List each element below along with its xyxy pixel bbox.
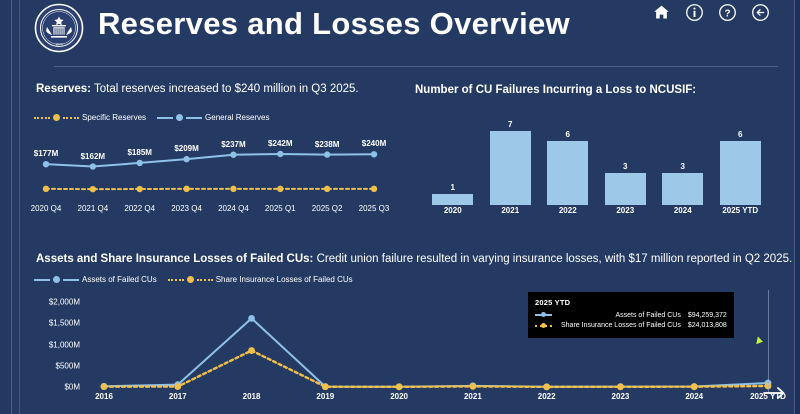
bar[interactable] [547, 141, 588, 205]
legend-item-assets-of-failed-cus[interactable]: Assets of Failed CUs [34, 275, 157, 284]
solid-line-swatch-icon [186, 117, 202, 119]
reserves-value-label: $177M [34, 149, 58, 158]
legend-item-share-insurance-losses[interactable]: Share Insurance Losses of Failed CUs [168, 275, 353, 284]
right-edge-strip [794, 0, 800, 414]
yellow-dot-icon [53, 114, 60, 121]
failures-x-axis-label: 2020 [444, 206, 462, 215]
losses-x-axis-label: 2020 [390, 392, 408, 401]
bar-value-label: 6 [738, 130, 742, 139]
bar[interactable] [605, 173, 646, 205]
solid-line-swatch-icon [63, 279, 79, 281]
reserves-heading-rest: Total reserves increased to $240 million… [91, 83, 359, 95]
bar[interactable] [720, 141, 761, 205]
left-edge-strip [0, 0, 12, 414]
reserves-heading-bold: Reserves: [36, 83, 91, 95]
reserves-value-label: $237M [221, 140, 245, 149]
tooltip-series-swatch-icon [535, 311, 561, 322]
legend-label: Assets of Failed CUs [82, 275, 157, 284]
reserves-value-label: $185M [127, 148, 151, 157]
page-title: Reserves and Losses Overview [98, 6, 570, 42]
solid-line-swatch-icon [157, 117, 173, 119]
losses-x-axis-label: 2018 [243, 392, 261, 401]
bar[interactable] [662, 173, 703, 205]
bar-value-label: 1 [451, 183, 455, 192]
legend-label: Share Insurance Losses of Failed CUs [216, 275, 353, 284]
dotted-line-swatch-icon [197, 279, 213, 281]
bar[interactable] [432, 194, 473, 205]
reserves-x-axis-label: 2025 Q3 [359, 204, 390, 213]
losses-x-axis-label: 2022 [538, 392, 556, 401]
reserves-value-label: $242M [268, 139, 292, 148]
losses-legend: Assets of Failed CUs Share Insurance Los… [34, 275, 360, 284]
reserves-x-axis-label: 2025 Q2 [312, 204, 343, 213]
tooltip-series-name: Assets of Failed CUs [561, 311, 688, 322]
reserves-x-axis-label: 2021 Q4 [77, 204, 108, 213]
dotted-line-swatch-icon [34, 117, 50, 119]
failures-x-axis-label: 2021 [501, 206, 519, 215]
reserves-heading: Reserves: Total reserves increased to $2… [36, 83, 359, 95]
chart-tooltip: 2025 YTD Assets of Failed CUs$94,259,372… [528, 292, 734, 338]
losses-heading-bold: Assets and Share Insurance Losses of Fai… [36, 253, 313, 265]
tooltip-series-name: Share Insurance Losses of Failed CUs [561, 321, 688, 332]
bar-value-label: 3 [681, 162, 685, 171]
dotted-line-swatch-icon [63, 117, 79, 119]
svg-text:1970: 1970 [55, 43, 63, 47]
info-icon[interactable] [685, 3, 704, 22]
reserves-x-axis-label: 2024 Q4 [218, 204, 249, 213]
reserves-legend: Specific Reserves General Reserves [34, 113, 277, 122]
blue-dot-icon [53, 276, 60, 283]
losses-x-axis-label: 2021 [464, 392, 482, 401]
losses-y-axis-label: $1,000M [28, 340, 80, 349]
dotted-line-swatch-icon [168, 279, 184, 281]
bar-value-label: 7 [508, 120, 512, 129]
losses-x-axis-label: 2017 [169, 392, 187, 401]
losses-y-axis-label: $0M [28, 383, 80, 392]
failures-x-axis-label: 2025 YTD [722, 206, 758, 215]
tooltip-row: Share Insurance Losses of Failed CUs$24,… [535, 321, 727, 332]
page-header: 1970 Reserves and Losses Overview ? [22, 0, 792, 67]
solid-line-swatch-icon [34, 279, 50, 281]
next-page-arrow-icon[interactable] [762, 385, 786, 406]
failures-x-axis-label: 2024 [674, 206, 692, 215]
blue-dot-icon [176, 114, 183, 121]
legend-item-general-reserves[interactable]: General Reserves [157, 113, 269, 122]
header-icon-group: ? [652, 3, 770, 22]
losses-x-axis-label: 2024 [685, 392, 703, 401]
svg-text:?: ? [724, 8, 730, 19]
bar[interactable] [490, 131, 531, 205]
bar-value-label: 6 [566, 130, 570, 139]
failures-heading: Number of CU Failures Incurring a Loss t… [415, 84, 696, 96]
yellow-dot-icon [187, 276, 194, 283]
failures-bar-chart[interactable]: 176336 202020212022202320242025 YTD [424, 120, 769, 220]
tooltip-series-swatch-icon [535, 321, 561, 332]
bar-value-label: 3 [623, 162, 627, 171]
losses-y-axis-label: $1,500M [28, 319, 80, 328]
legend-label: General Reserves [205, 113, 269, 122]
legend-label: Specific Reserves [82, 113, 146, 122]
header-divider [54, 66, 778, 67]
losses-x-axis-label: 2016 [95, 392, 113, 401]
tooltip-series-value: $94,259,372 [688, 311, 727, 322]
ncua-seal: 1970 [34, 3, 84, 53]
losses-x-axis-label: 2019 [316, 392, 334, 401]
left-edge-divider [19, 0, 20, 414]
failures-x-axis-label: 2023 [616, 206, 634, 215]
losses-y-axis-label: $2,000M [28, 298, 80, 307]
reserves-line-chart[interactable]: $177M$162M$185M$209M$237M$242M$238M$240M… [28, 128, 388, 220]
help-icon[interactable]: ? [718, 3, 737, 22]
tooltip-title: 2025 YTD [535, 297, 727, 309]
reserves-value-label: $240M [362, 139, 386, 148]
reserves-value-label: $162M [81, 152, 105, 161]
losses-x-axis-label: 2023 [612, 392, 630, 401]
tooltip-series-value: $24,013,808 [688, 321, 727, 332]
tooltip-row: Assets of Failed CUs$94,259,372 [535, 311, 727, 322]
reserves-x-axis-label: 2022 Q4 [124, 204, 155, 213]
reserves-value-label: $209M [174, 144, 198, 153]
reserves-x-axis-label: 2025 Q1 [265, 204, 296, 213]
losses-heading-rest: Credit union failure resulted in varying… [313, 253, 792, 265]
reserves-x-axis-label: 2023 Q4 [171, 204, 202, 213]
back-arrow-icon[interactable] [751, 3, 770, 22]
reserves-x-axis-label: 2020 Q4 [31, 204, 62, 213]
home-icon[interactable] [652, 3, 671, 22]
losses-heading: Assets and Share Insurance Losses of Fai… [36, 253, 792, 265]
losses-y-axis-label: $500M [28, 361, 80, 370]
failures-x-axis-label: 2022 [559, 206, 577, 215]
reserves-value-label: $238M [315, 140, 339, 149]
legend-item-specific-reserves[interactable]: Specific Reserves [34, 113, 146, 122]
